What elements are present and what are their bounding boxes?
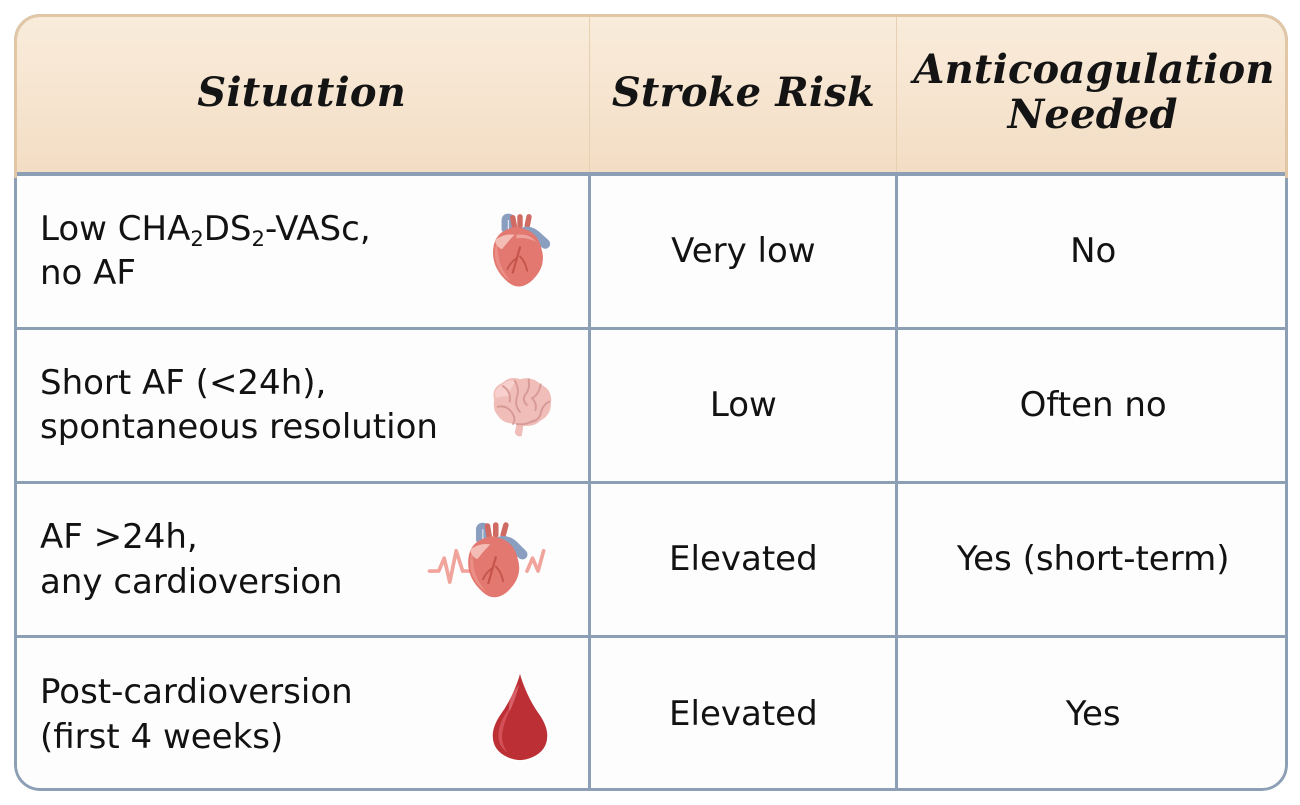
situation-label-row3: AF >24h, any cardioversion bbox=[40, 515, 343, 603]
subscript-two-b: 2 bbox=[252, 226, 265, 251]
cell-situation: Post-cardioversion (first 4 weeks) bbox=[14, 637, 590, 791]
cell-anticoagulation: No bbox=[897, 174, 1288, 328]
table-header: Situation Stroke Risk Anticoagulation Ne… bbox=[14, 14, 1288, 174]
brain-icon bbox=[472, 357, 568, 453]
cell-situation: Short AF (<24h), spontaneous resolution bbox=[14, 328, 590, 482]
cell-anticoagulation: Yes (short-term) bbox=[897, 483, 1288, 637]
cell-stroke-risk: Low bbox=[590, 328, 897, 482]
cell-stroke-risk: Elevated bbox=[590, 637, 897, 791]
table-row: Low CHA2DS2-VASc, no AF bbox=[14, 174, 1288, 328]
cell-anticoagulation: Yes bbox=[897, 637, 1288, 791]
situation-label-row1: Low CHA2DS2-VASc, no AF bbox=[40, 207, 371, 295]
anatomical-heart-icon bbox=[472, 203, 568, 299]
cell-anticoagulation: Often no bbox=[897, 328, 1288, 482]
cell-situation: AF >24h, any cardioversion bbox=[14, 483, 590, 637]
table-body: Low CHA2DS2-VASc, no AF bbox=[14, 174, 1288, 791]
cell-stroke-risk: Elevated bbox=[590, 483, 897, 637]
cell-situation: Low CHA2DS2-VASc, no AF bbox=[14, 174, 590, 328]
cell-stroke-risk: Very low bbox=[590, 174, 897, 328]
column-header-stroke-risk: Stroke Risk bbox=[590, 14, 897, 174]
situation-label-row4: Post-cardioversion (first 4 weeks) bbox=[40, 670, 353, 758]
table-row: Post-cardioversion (first 4 weeks) Eleva… bbox=[14, 637, 1288, 791]
table-row: Short AF (<24h), spontaneous resolution bbox=[14, 328, 1288, 482]
anticoagulation-decision-table: Situation Stroke Risk Anticoagulation Ne… bbox=[14, 14, 1288, 791]
table-row: AF >24h, any cardioversion bbox=[14, 483, 1288, 637]
column-header-anticoagulation: Anticoagulation Needed bbox=[897, 14, 1288, 174]
subscript-two-a: 2 bbox=[190, 226, 203, 251]
column-header-situation: Situation bbox=[14, 14, 590, 174]
situation-label-row2: Short AF (<24h), spontaneous resolution bbox=[40, 361, 438, 449]
risk-table: Situation Stroke Risk Anticoagulation Ne… bbox=[14, 14, 1288, 791]
heart-with-pulse-icon bbox=[418, 512, 568, 608]
page-root: Situation Stroke Risk Anticoagulation Ne… bbox=[0, 0, 1300, 805]
blood-drop-icon bbox=[472, 667, 568, 763]
header-row: Situation Stroke Risk Anticoagulation Ne… bbox=[14, 14, 1288, 174]
